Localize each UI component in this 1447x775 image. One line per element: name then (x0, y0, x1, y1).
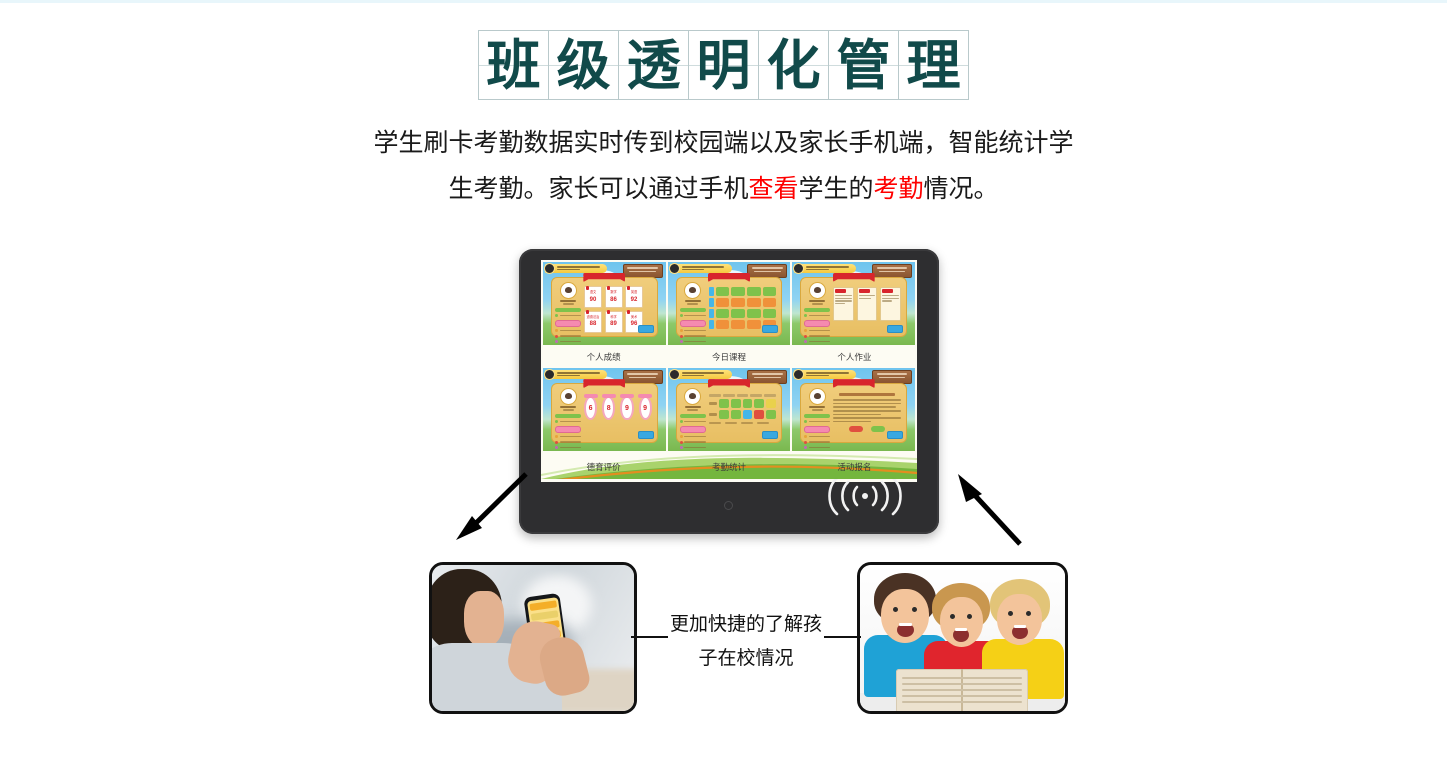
notice-signboard-icon (747, 264, 787, 278)
card-moral-evaluation[interactable]: 6 8 9 9 (543, 368, 666, 451)
schedule-cell[interactable] (763, 309, 777, 318)
arrow-to-parent-phone (448, 470, 534, 553)
subtitle-highlight-attendance: 考勤 (874, 174, 924, 203)
menu-item[interactable] (680, 435, 706, 439)
ribbon-banner (583, 379, 625, 388)
schedule-cell[interactable] (731, 309, 745, 318)
subtitle-line-1-text: 学生刷卡考勤数据实时传到校园端以及家长手机端，智能统计学 (373, 128, 1073, 157)
score-subject: 数学 (610, 291, 616, 294)
menu-item[interactable] (804, 334, 830, 338)
title-char-cell: 透 (619, 31, 689, 99)
card-sidebar[interactable] (680, 389, 706, 451)
title-char: 理 (907, 38, 961, 92)
card-sidebar[interactable] (555, 389, 581, 451)
card-panel (800, 277, 907, 337)
student-name (809, 406, 825, 408)
menu-item-active[interactable] (555, 308, 581, 312)
title-char: 透 (627, 38, 681, 92)
notice-signboard-icon (623, 264, 663, 278)
score-subject: 科学 (610, 316, 616, 319)
score-card: 科学89 (605, 311, 623, 333)
row-label (709, 402, 717, 405)
attendance-header-row (709, 394, 777, 397)
avatar (810, 283, 825, 298)
home-button[interactable] (724, 501, 733, 510)
attendance-cell (731, 410, 741, 419)
card-row-bottom: 6 8 9 9 (541, 368, 917, 451)
schedule-cell[interactable] (763, 287, 777, 296)
card-action-button[interactable] (762, 431, 778, 439)
caption-text: 更加快捷的了解孩 子在校情况 (641, 607, 851, 675)
eye (1026, 611, 1031, 616)
score-subject: 语文 (590, 291, 596, 294)
student-class (812, 303, 823, 305)
menu-item[interactable] (680, 420, 706, 424)
school-name-text (557, 372, 607, 377)
title-char: 级 (557, 38, 611, 92)
score-value: 89 (610, 321, 617, 327)
school-logo-icon (669, 369, 680, 380)
caption-line-1: 更加快捷的了解孩 (641, 607, 851, 641)
eye (893, 607, 898, 612)
teeth (1014, 625, 1026, 628)
title-char-cell: 级 (549, 31, 619, 99)
attendance-cell (743, 399, 753, 408)
card-action-button[interactable] (638, 431, 654, 439)
notice-signboard-icon (623, 370, 663, 384)
card-row-top: 语文90 数学86 英语92 道德法治88 科学89 美术96 (541, 260, 917, 345)
ribbon-banner (583, 273, 625, 282)
student-class (812, 409, 823, 411)
school-name-bar (794, 264, 856, 273)
school-name-bar (545, 370, 607, 379)
attendance-cell (754, 410, 764, 419)
menu-item-active[interactable] (804, 308, 830, 312)
notice-signboard-icon (872, 370, 912, 384)
score-subject: 道德法治 (587, 316, 600, 319)
score-value: 92 (631, 297, 638, 303)
evaluation-badge: 8 (602, 396, 615, 420)
homework-note[interactable] (857, 287, 878, 321)
note-header (859, 289, 870, 293)
notice-signboard-icon (872, 264, 912, 278)
schedule-cell[interactable] (716, 309, 730, 318)
menu-item[interactable] (555, 420, 581, 424)
card-label-activity-signup: 活动报名 (792, 461, 917, 473)
note-header (882, 289, 893, 293)
notice-signboard-icon (747, 370, 787, 384)
schedule-cell[interactable] (731, 287, 745, 296)
caption-line-1-text: 更加快捷的了解孩 (668, 607, 824, 641)
ribbon-banner (708, 273, 750, 282)
tablet-bottom-bezel (519, 484, 939, 534)
activity-title (839, 393, 894, 396)
tablet-screen[interactable]: 语文90 数学86 英语92 道德法治88 科学89 美术96 (541, 260, 917, 482)
menu-item-highlight[interactable] (555, 426, 581, 433)
parent-face (464, 591, 504, 647)
avatar (685, 389, 700, 404)
homework-note[interactable] (833, 287, 854, 321)
score-value: 96 (631, 321, 638, 327)
rfid-wave-icon (823, 474, 907, 524)
score-subject: 美术 (631, 316, 637, 319)
signup-button[interactable] (849, 426, 863, 432)
period-label (709, 320, 714, 329)
title-char: 化 (767, 38, 821, 92)
school-name-bar (794, 370, 856, 379)
top-edge-strip (0, 0, 1447, 3)
menu-item[interactable] (555, 314, 581, 318)
menu-item[interactable] (555, 340, 581, 344)
cancel-button[interactable] (871, 426, 885, 432)
attendance-table (709, 390, 777, 424)
caption-line-2-text: 子在校情况 (696, 641, 795, 675)
title-char-cell: 明 (689, 31, 759, 99)
subtitle-line-1: 学生刷卡考勤数据实时传到校园端以及家长手机端，智能统计学 (0, 120, 1447, 166)
menu-item-active[interactable] (680, 414, 706, 418)
badge-value: 9 (625, 405, 629, 412)
menu-item[interactable] (555, 334, 581, 338)
menu-item[interactable] (680, 329, 706, 333)
student-name (685, 300, 701, 302)
score-value: 90 (590, 297, 597, 303)
schedule-cell[interactable] (763, 298, 777, 307)
menu-item-highlight[interactable] (804, 320, 830, 327)
student-class (563, 303, 574, 305)
card-action-button[interactable] (638, 325, 654, 333)
school-name-text (806, 372, 856, 377)
menu-item[interactable] (555, 329, 581, 333)
attendance-cell (766, 399, 776, 408)
menu-item[interactable] (555, 435, 581, 439)
student-class (687, 409, 698, 411)
card-personal-scores[interactable]: 语文90 数学86 英语92 道德法治88 科学89 美术96 (543, 262, 666, 345)
badge-value: 9 (643, 405, 647, 412)
schedule-cell[interactable] (747, 287, 761, 296)
subtitle-text: 学生刷卡考勤数据实时传到校园端以及家长手机端，智能统计学 生考勤。家长可以通过手… (0, 120, 1447, 212)
note-header (835, 289, 846, 293)
school-name-text (682, 266, 732, 271)
menu-item[interactable] (804, 435, 830, 439)
student-name (685, 406, 701, 408)
card-panel (676, 277, 783, 337)
evaluation-badge-list: 6 8 9 9 (584, 390, 652, 420)
eye (912, 607, 917, 612)
card-label-row-bottom: 德育评价 考勤统计 活动报名 (541, 451, 917, 482)
schedule-cell[interactable] (716, 298, 730, 307)
caption-line-2: 子在校情况 (641, 641, 851, 675)
ribbon-banner (833, 379, 875, 388)
score-card: 英语92 (625, 286, 643, 308)
eye (1008, 611, 1013, 616)
menu-item[interactable] (680, 314, 706, 318)
card-panel (676, 383, 783, 443)
schedule-period-labels (709, 287, 714, 329)
schedule-cell[interactable] (716, 287, 730, 296)
attendance-row (709, 410, 777, 419)
avatar (685, 283, 700, 298)
schedule-cell[interactable] (731, 320, 745, 329)
menu-item[interactable] (804, 440, 830, 444)
student-name (560, 406, 576, 408)
arrow-up-left-icon (950, 468, 1036, 550)
title-char-cell: 化 (759, 31, 829, 99)
student-name (809, 300, 825, 302)
attendance-cell (743, 410, 753, 419)
score-card: 数学86 (605, 286, 623, 308)
card-label-personal-homework: 个人作业 (792, 351, 917, 363)
card-action-button[interactable] (887, 431, 903, 439)
score-subject: 英语 (631, 291, 637, 294)
school-name-bar (670, 370, 732, 379)
ribbon-banner (708, 379, 750, 388)
student-name (560, 300, 576, 302)
school-logo-icon (544, 369, 555, 380)
menu-item[interactable] (555, 440, 581, 444)
subtitle-line-2: 生考勤。家长可以通过手机查看学生的考勤情况。 (0, 166, 1447, 212)
avatar (561, 283, 576, 298)
schedule-cell[interactable] (731, 298, 745, 307)
avatar (561, 389, 576, 404)
title-char-cell: 理 (899, 31, 969, 99)
schedule-cell[interactable] (747, 320, 761, 329)
card-label-row-top: 个人成绩 今日课程 个人作业 (541, 345, 917, 368)
card-sidebar[interactable] (804, 283, 830, 345)
menu-item[interactable] (680, 340, 706, 344)
card-label-today-schedule: 今日课程 (666, 351, 791, 363)
evaluation-badge: 9 (639, 396, 652, 420)
homework-note-list (833, 284, 901, 321)
attendance-row (709, 399, 777, 408)
card-panel: 6 8 9 9 (551, 383, 658, 443)
attendance-cell (766, 410, 776, 419)
menu-item-active[interactable] (555, 414, 581, 418)
menu-item[interactable] (804, 329, 830, 333)
homework-note[interactable] (880, 287, 901, 321)
badge-value: 6 (589, 405, 593, 412)
menu-item[interactable] (804, 314, 830, 318)
avatar (810, 389, 825, 404)
title-char: 管 (837, 38, 891, 92)
evaluation-badge: 6 (584, 396, 597, 420)
teeth (899, 623, 912, 626)
card-panel (800, 383, 907, 443)
tablet-device[interactable]: 语文90 数学86 英语92 道德法治88 科学89 美术96 (519, 249, 939, 534)
subtitle-highlight-view: 查看 (748, 174, 798, 203)
schedule-cell[interactable] (716, 320, 730, 329)
period-label (709, 298, 714, 307)
title-char-cell: 班 (479, 31, 549, 99)
card-today-schedule[interactable] (668, 262, 791, 345)
card-action-button[interactable] (887, 325, 903, 333)
menu-item[interactable] (680, 440, 706, 444)
open-book (896, 669, 1028, 713)
attendance-cell (731, 399, 741, 408)
school-name-bar (670, 264, 732, 273)
subtitle-line-2-b: 学生的 (798, 174, 873, 203)
card-action-button[interactable] (762, 325, 778, 333)
subtitle-line-2-c: 情况。 (924, 174, 999, 203)
attendance-cell (754, 399, 764, 408)
student-class (687, 303, 698, 305)
menu-item-highlight[interactable] (680, 320, 706, 327)
rfid-wave-svg (823, 474, 907, 518)
period-label (709, 287, 714, 296)
arrow-to-tablet (950, 468, 1036, 555)
card-panel: 语文90 数学86 英语92 道德法治88 科学89 美术96 (551, 277, 658, 337)
school-logo-icon (544, 263, 555, 274)
title-grid: 班 级 透 明 化 管 理 (478, 30, 969, 100)
attendance-cell (719, 399, 729, 408)
children-reading-photo (857, 562, 1068, 714)
school-logo-icon (669, 263, 680, 274)
menu-item[interactable] (804, 420, 830, 424)
card-label-moral-evaluation: 德育评价 (541, 461, 666, 473)
evaluation-badge: 9 (620, 396, 633, 420)
menu-item-highlight[interactable] (680, 426, 706, 433)
card-label-attendance-stats: 考勤统计 (666, 461, 791, 473)
attendance-cell (719, 410, 729, 419)
card-sidebar[interactable] (804, 389, 830, 451)
menu-item-active[interactable] (804, 414, 830, 418)
student-class (563, 409, 574, 411)
schedule-grid (709, 284, 777, 329)
menu-item[interactable] (680, 334, 706, 338)
title-char: 明 (697, 38, 751, 92)
eye (967, 614, 972, 619)
menu-item-active[interactable] (680, 308, 706, 312)
card-label-personal-scores: 个人成绩 (541, 351, 666, 363)
menu-item-highlight[interactable] (804, 426, 830, 433)
schedule-cell[interactable] (747, 298, 761, 307)
school-name-text (557, 266, 607, 271)
schedule-row (716, 309, 777, 318)
schedule-row (716, 287, 777, 296)
row-label (709, 413, 717, 416)
school-logo-icon (793, 263, 804, 274)
app-card-grid: 语文90 数学86 英语92 道德法治88 科学89 美术96 (541, 260, 917, 482)
parent-phone-photo (429, 562, 637, 714)
menu-item-highlight[interactable] (555, 320, 581, 327)
card-personal-homework[interactable] (792, 262, 915, 345)
card-attendance-stats[interactable] (668, 368, 791, 451)
school-name-bar (545, 264, 607, 273)
subtitle-line-2-a: 生考勤。家长可以通过手机 (448, 174, 748, 203)
menu-item[interactable] (804, 340, 830, 344)
title-char-cell: 管 (829, 31, 899, 99)
school-name-text (806, 266, 856, 271)
card-activity-signup[interactable] (792, 368, 915, 451)
score-value: 86 (610, 297, 617, 303)
badge-value: 8 (607, 405, 611, 412)
eye (950, 614, 955, 619)
page-title: 班 级 透 明 化 管 理 (0, 30, 1447, 100)
ribbon-banner (833, 273, 875, 282)
school-name-text (682, 372, 732, 377)
schedule-cell[interactable] (747, 309, 761, 318)
school-logo-icon (793, 369, 804, 380)
score-card: 语文90 (584, 286, 602, 308)
score-card: 道德法治88 (584, 311, 602, 333)
card-sidebar[interactable] (555, 283, 581, 345)
card-sidebar[interactable] (680, 283, 706, 345)
attendance-legend (709, 422, 777, 424)
arrow-down-left-icon (448, 470, 534, 548)
score-value: 88 (590, 321, 597, 327)
schedule-cells (716, 287, 777, 329)
activity-notice (833, 390, 901, 432)
title-char: 班 (487, 38, 541, 92)
teeth (955, 628, 967, 631)
period-label (709, 309, 714, 318)
schedule-row (716, 298, 777, 307)
